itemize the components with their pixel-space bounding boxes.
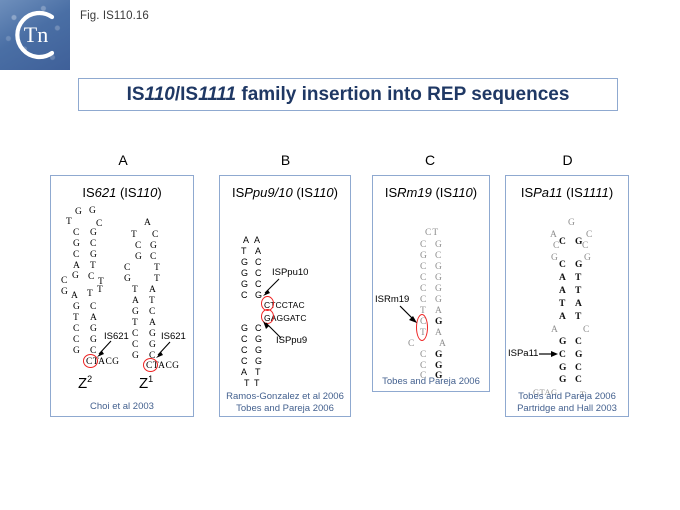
panel-letter-a: A	[48, 152, 198, 168]
panel-d-title-seg-4: )	[609, 185, 613, 200]
seq-c-r4-r: G	[435, 285, 442, 294]
svg-text:Tn: Tn	[24, 22, 48, 47]
seq-a-z1-r9-r: G	[149, 330, 156, 339]
seq-b-bot-r1-r: G	[255, 335, 262, 344]
seq-c-r10-l: C	[420, 351, 426, 360]
seq-c-r7-r: G	[435, 318, 442, 327]
panel-a-title-seg-3: 110	[137, 185, 158, 200]
panel-a-title-seg-0: IS	[82, 185, 94, 200]
seq-a-z1-arrow	[154, 340, 174, 360]
panel-c-title: ISRm19 (IS110)	[373, 185, 489, 200]
seq-a-z2-label: Z2	[78, 374, 92, 392]
panel-b: ISPpu9/10 (IS110) A A T A G C G C G C C …	[219, 175, 351, 417]
panel-c-title-seg-4: )	[473, 185, 477, 200]
panel-c-title-seg-2: (IS	[432, 185, 452, 200]
seq-b-top-r1-l: T	[241, 247, 247, 256]
seq-a-z2-bulge-0: C	[61, 277, 67, 286]
panel-b-citation-1: Tobes and Pareja 2006	[220, 403, 350, 415]
panel-c-citation-0: Tobes and Pareja 2006	[373, 376, 489, 388]
seq-b-bot-r4-l: A	[241, 368, 247, 377]
seq-a-z2-r10-l: C	[73, 325, 79, 334]
page-title: IS110/IS1111 family insertion into REP s…	[127, 84, 570, 106]
seq-a-z2-r2-l: C	[73, 229, 79, 238]
seq-d-r7-l: G	[559, 338, 566, 347]
panel-letter-d: D	[505, 152, 630, 168]
panel-d-title-seg-3: 1111	[583, 185, 609, 200]
seq-b-top-r3-l: G	[241, 269, 248, 278]
panel-d-title-seg-2: (IS	[563, 185, 583, 200]
panel-d-citation-1: Partridge and Hall 2003	[506, 403, 628, 415]
seq-a-z2-r5-r: T	[90, 262, 96, 271]
seq-a-z2-r11-l: C	[73, 336, 79, 345]
panel-d-title-seg-0: IS	[521, 185, 533, 200]
seq-c-r8-r: A	[435, 329, 442, 338]
seq-d-r1-r: G	[575, 261, 582, 270]
figure-number-label: Fig. IS110.16	[80, 10, 149, 22]
panel-c-title-seg-0: IS	[385, 185, 397, 200]
panel-d-title: ISPa11 (IS1111)	[506, 185, 628, 200]
seq-c-r9-r: A	[439, 340, 446, 349]
seq-a-z1-r1-l: C	[135, 242, 141, 251]
panel-d-citation-0: Tobes and Pareja 2006	[506, 391, 628, 403]
seq-a-z1-r7-l: G	[132, 308, 139, 317]
seq-d-r5-l: A	[559, 313, 566, 322]
seq-a-z1-r3-r: T	[154, 264, 160, 273]
seq-a-z2-r7-l: A	[71, 292, 78, 301]
seq-b-bot-r1-l: C	[241, 335, 248, 344]
title-seg-0: IS	[127, 84, 145, 105]
panel-b-title: ISPpu9/10 (IS110)	[220, 185, 350, 200]
seq-a-z1-r1-r: G	[150, 242, 157, 251]
seq-c-r4-l: C	[420, 285, 426, 294]
panel-c: ISRm19 (IS110) CT C G G C C G C G C G C …	[372, 175, 490, 392]
panel-a-citation-0: Choi et al 2003	[51, 401, 193, 413]
ctn-logo: Tn	[0, 0, 70, 70]
seq-d-r8-r: G	[575, 351, 582, 360]
seq-d-r10-r: C	[575, 376, 582, 385]
seq-a-z2-r0-r: G	[89, 207, 96, 216]
seq-a-z1-r7-r: C	[149, 308, 155, 317]
seq-d-r0-l: C	[559, 238, 566, 247]
seq-b-bot-r2-r: G	[255, 346, 262, 355]
seq-a-z2-arrow	[95, 339, 115, 359]
seq-d-r9-r: C	[575, 364, 582, 373]
seq-a-z1-r4-l: G	[124, 275, 131, 284]
seq-a-z1-r5-r: A	[149, 286, 156, 295]
seq-a-z2-label-sup: 2	[87, 374, 92, 384]
seq-c-r5-r: G	[435, 296, 442, 305]
seq-d-r2-l: A	[559, 274, 566, 283]
seq-a-z1-r0-l: T	[131, 231, 137, 240]
seq-b-bot-r3-r: G	[255, 357, 262, 366]
seq-a-z2-r1-l: T	[66, 218, 72, 227]
seq-a-z1-r5-l: T	[132, 286, 138, 295]
panel-b-title-seg-2: (IS	[293, 185, 313, 200]
seq-c-arrow	[397, 304, 421, 326]
panel-b-title-seg-4: )	[334, 185, 338, 200]
panel-b-title-seg-1: Ppu9/10	[244, 185, 292, 200]
seq-d-r3-l: A	[559, 287, 566, 296]
seq-d-r1-l: C	[559, 261, 566, 270]
panel-a-title-seg-2: (IS	[116, 185, 136, 200]
seq-a-z2-r9-l: T	[73, 314, 79, 323]
seq-d-insertion-label: ISPa11	[508, 348, 538, 359]
seq-d-outerright-2: G	[584, 254, 591, 263]
seq-c-r9-l: C	[408, 340, 414, 349]
seq-d-outerright-0: C	[586, 231, 592, 240]
panel-d: ISPa11 (IS1111) G A C C C G G C G C G A …	[505, 175, 629, 417]
figure-title-box: IS110/IS1111 family insertion into REP s…	[78, 78, 618, 111]
seq-a-z1-r10-l: C	[132, 341, 138, 350]
seq-b-top-r4-l: G	[241, 280, 248, 289]
seq-a-z2-r8-r: C	[90, 303, 96, 312]
panel-a-title: IS621 (IS110)	[51, 185, 193, 200]
seq-d-outerleft-2: G	[551, 254, 558, 263]
seq-b-top-r2-l: G	[241, 258, 248, 267]
panel-c-title-seg-3: 110	[452, 185, 473, 200]
seq-c-r10-r: G	[435, 351, 442, 360]
seq-d-r4-l: T	[559, 300, 565, 309]
seq-c-r11-l: C	[420, 362, 426, 371]
seq-a-z2-r6-r: C	[88, 273, 94, 282]
seq-d-r7-r: C	[575, 338, 582, 347]
title-seg-4: family insertion into REP sequences	[236, 84, 569, 105]
seq-b-bot-r0-r: C	[255, 324, 262, 333]
panel-d-title-seg-1: Pa11	[533, 185, 562, 200]
seq-b-bot-r2-l: C	[241, 346, 248, 355]
seq-b-top-r2-r: C	[255, 258, 262, 267]
seq-a-z1-r2-l: G	[135, 253, 142, 262]
seq-c-r1-l: G	[420, 252, 427, 261]
seq-a-z2-r7-r: T	[87, 290, 93, 299]
seq-b-bot-r0-l: G	[241, 324, 248, 333]
seq-a-z2-r8-l: G	[73, 303, 80, 312]
seq-b-top-r5-l: C	[241, 291, 248, 300]
seq-a-z1-r6-r: T	[149, 297, 155, 306]
seq-d-r10-l: G	[559, 376, 566, 385]
seq-b-bot-r4-r: T	[255, 368, 261, 377]
seq-c-loop: CT	[425, 229, 439, 238]
title-seg-1: 110	[145, 84, 175, 105]
seq-b-top-r1-r: A	[255, 247, 261, 256]
seq-c-r0-l: C	[420, 241, 426, 250]
seq-a-z1-r0-r: C	[152, 231, 158, 240]
seq-d-r4-r: A	[575, 300, 582, 309]
seq-d-r5-r: T	[575, 313, 581, 322]
panel-letter-c: C	[370, 152, 490, 168]
seq-a-z2-r10-r: G	[90, 325, 97, 334]
seq-b-ispu9-label: ISPpu9	[276, 335, 307, 346]
seq-a-z2-r0-l: G	[75, 208, 82, 217]
seq-a-z1-r8-l: T	[132, 319, 138, 328]
seq-a-z2-r3-r: C	[90, 240, 96, 249]
seq-b-top-r0-l: A	[243, 236, 249, 245]
seq-a-z1-label-main: Z	[139, 375, 148, 392]
seq-c-r11-r: G	[435, 362, 442, 371]
seq-d-outerright-1: C	[582, 242, 588, 251]
seq-d-r3-r: T	[575, 287, 581, 296]
seq-a-z1-insertion-highlight	[143, 358, 158, 372]
seq-a-z1-label-sup: 1	[148, 374, 153, 384]
seq-a-z2-r4-l: C	[73, 251, 79, 260]
seq-a-z1-r6-l: A	[132, 297, 139, 306]
seq-b-bot-r3-l: C	[241, 357, 248, 366]
seq-c-r3-l: C	[420, 274, 426, 283]
seq-d-r9-l: G	[559, 364, 566, 373]
seq-a-z1-r9-l: C	[132, 330, 138, 339]
seq-d-outerleft-0: A	[550, 231, 557, 240]
seq-c-r2-l: C	[420, 263, 426, 272]
panel-c-title-seg-1: Rm19	[397, 185, 432, 200]
seq-a-z2-label-main: Z	[78, 375, 87, 392]
seq-a-z2-bulge-3: T	[97, 286, 103, 295]
seq-a-z1-r2-r: C	[150, 253, 156, 262]
seq-a-z2-r12-l: G	[73, 347, 80, 356]
panel-b-title-seg-0: IS	[232, 185, 244, 200]
seq-c-r6-r: A	[435, 307, 442, 316]
seq-d-r6-l: A	[551, 326, 558, 335]
title-seg-2: /IS	[175, 84, 198, 105]
seq-a-z1-r3-l: C	[124, 264, 130, 273]
panel-a-title-seg-1: 621	[95, 185, 117, 200]
seq-b-bot-r5-r: T	[254, 379, 260, 388]
seq-a-z2-r5-l: A	[73, 262, 80, 271]
seq-d-loop: G	[568, 219, 575, 228]
panel-b-title-seg-3: 110	[313, 185, 334, 200]
seq-a-z2-r2-r: G	[90, 229, 97, 238]
seq-a-z2-r3-l: G	[73, 240, 80, 249]
seq-d-r6-r: C	[583, 326, 589, 335]
seq-b-ispu10-arrow	[260, 277, 282, 299]
seq-a-z1-r11-l: G	[132, 352, 139, 361]
seq-a-z2-bulge-1: G	[61, 288, 68, 297]
seq-b-top-r0-r: A	[254, 236, 260, 245]
seq-c-r1-r: C	[435, 252, 441, 261]
panel-a: IS621 (IS110) G G T C C G G C C G A T G …	[50, 175, 194, 417]
title-seg-3: 1111	[198, 84, 236, 105]
seq-d-insertion-label-text: ISPa11	[508, 348, 538, 359]
seq-a-z2-r9-r: A	[90, 314, 97, 323]
seq-a-z1-r4-r: T	[154, 275, 160, 284]
seq-d-r0-r: G	[575, 238, 582, 247]
panel-b-citation-0: Ramos-Gonzalez et al 2006	[220, 391, 350, 403]
panel-a-title-seg-4: )	[157, 185, 161, 200]
seq-b-ispu9-label-text: ISPpu9	[276, 335, 307, 346]
seq-d-arrow	[539, 348, 561, 360]
seq-a-z1-label: Z1	[139, 374, 153, 392]
seq-a-z2-r4-r: G	[90, 251, 97, 260]
panel-letter-b: B	[218, 152, 353, 168]
seq-a-z1-r8-r: A	[149, 319, 156, 328]
seq-c-r3-r: G	[435, 274, 442, 283]
seq-c-r2-r: G	[435, 263, 442, 272]
seq-d-r2-r: T	[575, 274, 581, 283]
seq-c-r0-r: G	[435, 241, 442, 250]
seq-b-bot-r5-l: T	[244, 379, 250, 388]
seq-a-z2-r6-l: G	[72, 272, 79, 281]
seq-a-z1-loop: A	[144, 219, 151, 228]
